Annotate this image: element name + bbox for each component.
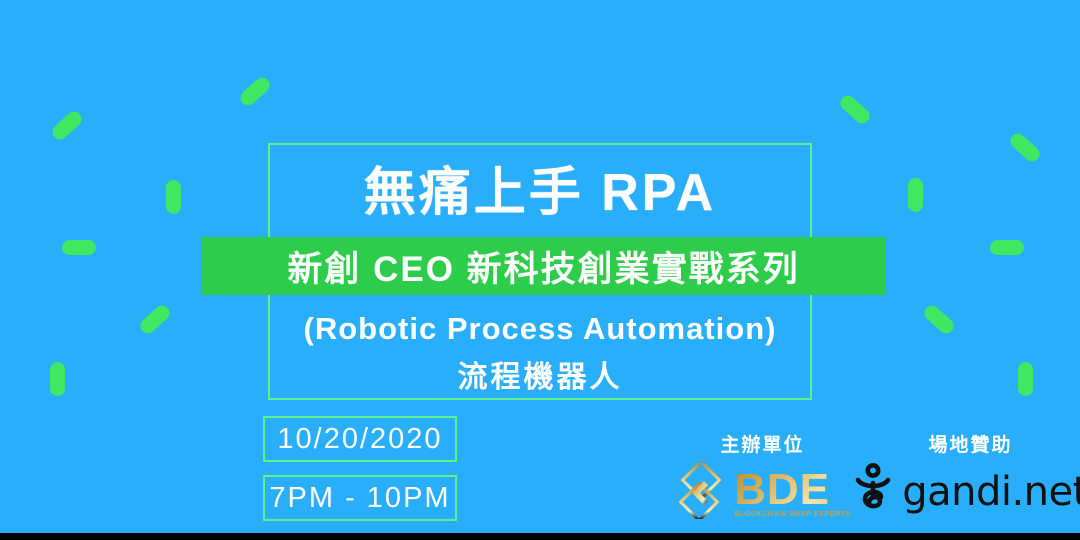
main-title: 無痛上手 RPA bbox=[0, 167, 1080, 219]
bde-logo: BDE BLOCKCHAIN DAPP EXPERTS bbox=[660, 463, 865, 524]
decorative-capsule bbox=[837, 93, 872, 127]
bde-diamond-icon bbox=[674, 463, 726, 524]
organizer-block: 主辦單位 bbox=[660, 430, 865, 524]
bde-wordmark: BDE bbox=[734, 469, 851, 511]
decorative-capsule bbox=[237, 75, 272, 109]
event-time-text: 7PM - 10PM bbox=[269, 482, 450, 515]
bottom-strip bbox=[0, 533, 1080, 540]
subtitle-banner: 新創 CEO 新科技創業實戰系列 bbox=[202, 237, 885, 295]
subtitle-chinese: 流程機器人 bbox=[0, 352, 1080, 396]
decorative-capsule bbox=[990, 240, 1024, 255]
event-poster: 無痛上手 RPA 新創 CEO 新科技創業實戰系列 (Robotic Proce… bbox=[0, 0, 1080, 540]
gandi-wordmark: gandi.net bbox=[902, 472, 1080, 512]
subtitle-banner-text: 新創 CEO 新科技創業實戰系列 bbox=[287, 241, 799, 292]
decorative-capsule bbox=[49, 109, 84, 143]
gandi-figure-icon bbox=[853, 463, 893, 520]
venue-sponsor-label: 場地贊助 bbox=[868, 430, 1073, 457]
event-date-text: 10/20/2020 bbox=[277, 423, 442, 456]
event-time-box: 7PM - 10PM bbox=[263, 475, 457, 521]
gandi-logo: gandi.net bbox=[868, 463, 1073, 520]
decorative-capsule bbox=[62, 240, 96, 255]
bde-wordmark-wrap: BDE BLOCKCHAIN DAPP EXPERTS bbox=[734, 469, 851, 519]
venue-sponsor-block: 場地贊助 gandi.net bbox=[868, 430, 1073, 520]
subtitle-english: (Robotic Process Automation) bbox=[0, 311, 1080, 347]
bde-tagline: BLOCKCHAIN DAPP EXPERTS bbox=[734, 511, 851, 518]
title-stack: 無痛上手 RPA bbox=[0, 143, 1080, 219]
organizer-label: 主辦單位 bbox=[660, 430, 865, 457]
event-date-box: 10/20/2020 bbox=[263, 416, 457, 462]
